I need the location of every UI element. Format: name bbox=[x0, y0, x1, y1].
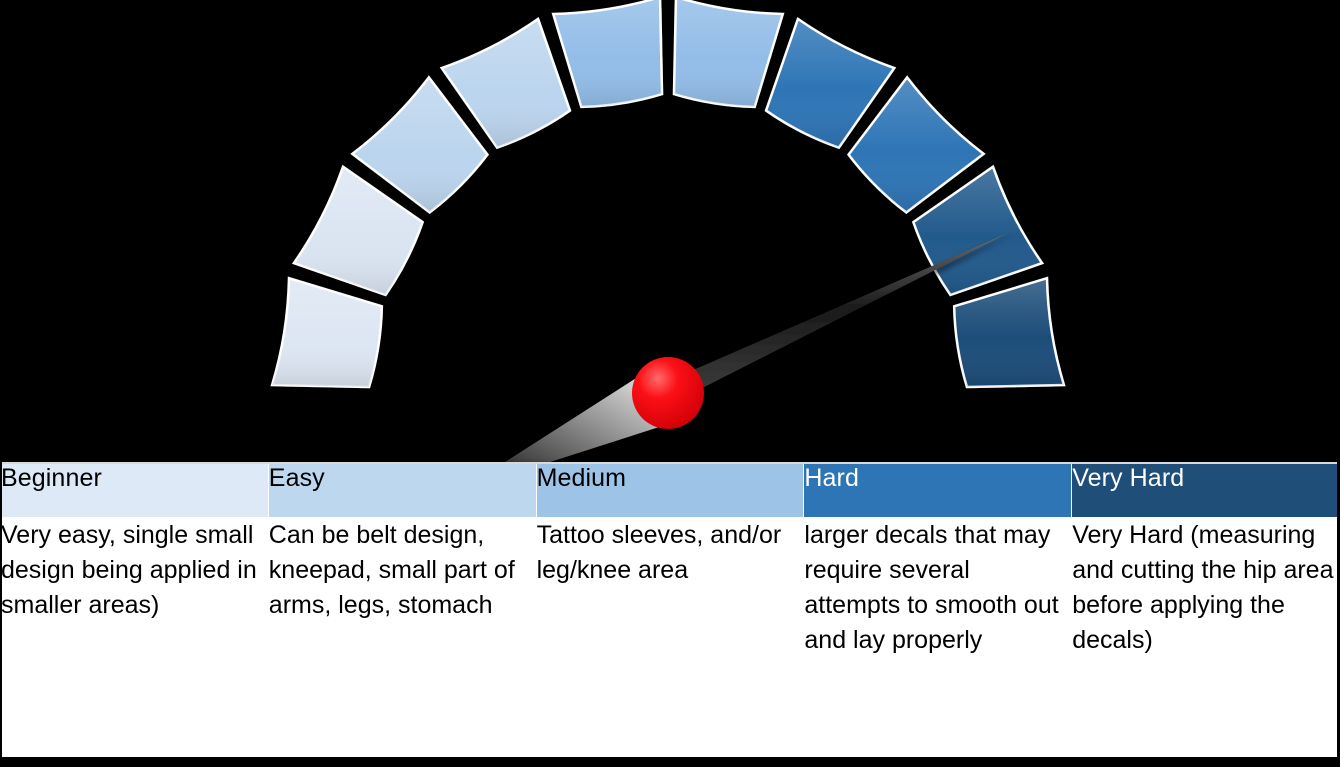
left-edge-strip bbox=[0, 462, 2, 767]
table-header-row: Beginner Easy Medium Hard Very Hard bbox=[1, 463, 1340, 518]
header-cell-very-hard: Very Hard bbox=[1072, 463, 1340, 518]
body-cell-medium: Tattoo sleeves, and/or leg/knee area bbox=[536, 518, 804, 758]
header-label-hard: Hard bbox=[804, 464, 859, 492]
gauge-svg bbox=[0, 0, 1340, 470]
gauge-segment-sheen-6 bbox=[674, 0, 783, 107]
header-cell-easy: Easy bbox=[268, 463, 536, 518]
gauge-segment-sheen-5 bbox=[553, 0, 662, 107]
body-cell-hard: larger decals that may require several a… bbox=[804, 518, 1072, 758]
difficulty-table: Beginner Easy Medium Hard Very Hard Very… bbox=[0, 462, 1340, 767]
table-body-row: Very easy, single small design being app… bbox=[1, 518, 1340, 758]
gauge-pivot bbox=[632, 357, 704, 429]
gauge-segments bbox=[272, 0, 1064, 387]
header-label-easy: Easy bbox=[269, 464, 325, 492]
ratings-table: Beginner Easy Medium Hard Very Hard Very… bbox=[0, 462, 1340, 758]
slide-canvas: Beginner Easy Medium Hard Very Hard Very… bbox=[0, 0, 1340, 767]
header-label-very-hard: Very Hard bbox=[1072, 464, 1184, 492]
header-cell-medium: Medium bbox=[536, 463, 804, 518]
body-cell-beginner: Very easy, single small design being app… bbox=[1, 518, 269, 758]
gauge-segment-sheen-10 bbox=[954, 278, 1064, 387]
header-label-beginner: Beginner bbox=[1, 464, 102, 492]
bottom-edge-strip bbox=[0, 757, 1340, 767]
header-cell-beginner: Beginner bbox=[1, 463, 269, 518]
body-cell-very-hard: Very Hard (measuring and cutting the hip… bbox=[1072, 518, 1340, 758]
gauge-segment-sheen-1 bbox=[272, 278, 382, 387]
body-cell-easy: Can be belt design, kneepad, small part … bbox=[268, 518, 536, 758]
header-cell-hard: Hard bbox=[804, 463, 1072, 518]
gauge-segments-sheen bbox=[272, 0, 1064, 387]
header-label-medium: Medium bbox=[537, 464, 627, 492]
difficulty-gauge bbox=[0, 0, 1340, 470]
